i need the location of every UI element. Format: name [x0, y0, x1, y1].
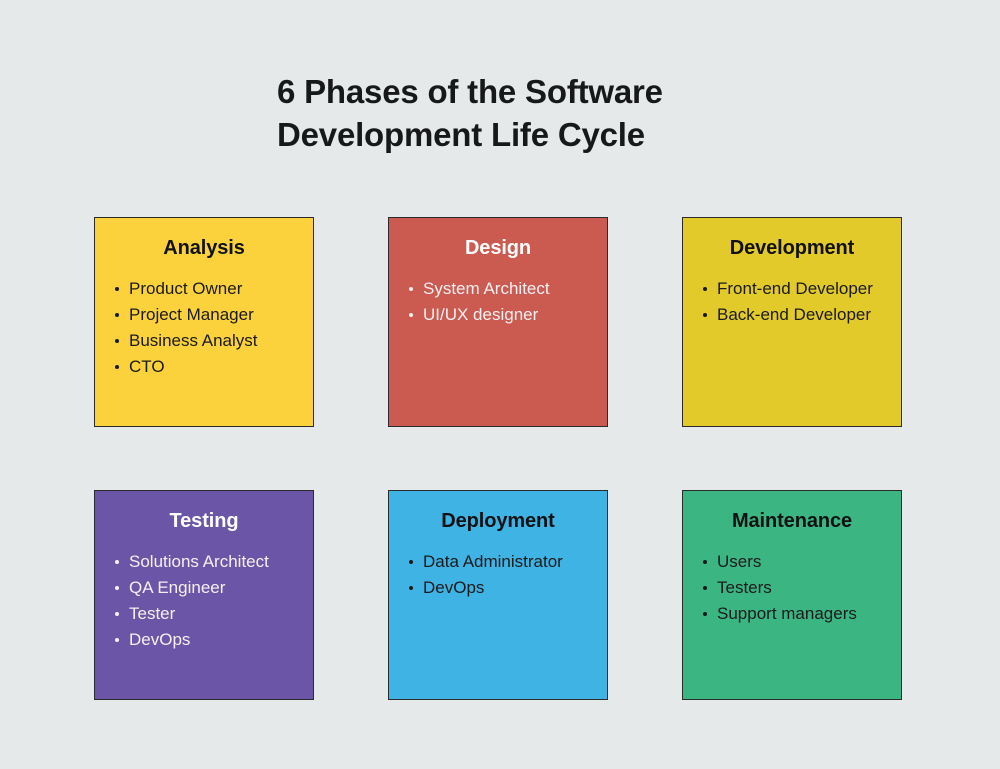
phase-role-item: System Architect — [423, 276, 597, 302]
phase-role-item: Solutions Architect — [129, 549, 303, 575]
phase-card-design[interactable]: DesignSystem ArchitectUI/UX designer — [388, 217, 608, 427]
phase-role-list-testing: Solutions ArchitectQA EngineerTesterDevO… — [95, 549, 313, 653]
phase-role-item: Support managers — [717, 601, 891, 627]
phase-role-item: DevOps — [423, 575, 597, 601]
phase-role-list-maintenance: UsersTestersSupport managers — [683, 549, 901, 627]
phase-role-item: Business Analyst — [129, 328, 303, 354]
phase-role-item: Users — [717, 549, 891, 575]
phase-role-item: Back-end Developer — [717, 302, 891, 328]
phase-heading-development: Development — [693, 236, 891, 260]
phase-heading-testing: Testing — [105, 509, 303, 533]
page-title: 6 Phases of the Software Development Lif… — [277, 70, 917, 156]
phase-card-testing[interactable]: TestingSolutions ArchitectQA EngineerTes… — [94, 490, 314, 700]
phase-role-item: Product Owner — [129, 276, 303, 302]
phase-card-development[interactable]: DevelopmentFront-end DeveloperBack-end D… — [682, 217, 902, 427]
phase-heading-analysis: Analysis — [105, 236, 303, 260]
phase-card-analysis[interactable]: AnalysisProduct OwnerProject ManagerBusi… — [94, 217, 314, 427]
phase-role-item: UI/UX designer — [423, 302, 597, 328]
phase-role-list-design: System ArchitectUI/UX designer — [389, 276, 607, 328]
phase-role-item: QA Engineer — [129, 575, 303, 601]
phase-role-list-development: Front-end DeveloperBack-end Developer — [683, 276, 901, 328]
phase-role-item: Tester — [129, 601, 303, 627]
phase-heading-maintenance: Maintenance — [693, 509, 891, 533]
phase-role-list-deployment: Data AdministratorDevOps — [389, 549, 607, 601]
phase-role-item: Front-end Developer — [717, 276, 891, 302]
phase-role-item: Testers — [717, 575, 891, 601]
phase-card-grid: AnalysisProduct OwnerProject ManagerBusi… — [94, 217, 910, 700]
phase-role-item: Data Administrator — [423, 549, 597, 575]
phase-heading-design: Design — [399, 236, 597, 260]
phase-card-maintenance[interactable]: MaintenanceUsersTestersSupport managers — [682, 490, 902, 700]
phase-role-item: DevOps — [129, 627, 303, 653]
phase-role-list-analysis: Product OwnerProject ManagerBusiness Ana… — [95, 276, 313, 380]
phase-card-deployment[interactable]: DeploymentData AdministratorDevOps — [388, 490, 608, 700]
phase-role-item: CTO — [129, 354, 303, 380]
phase-role-item: Project Manager — [129, 302, 303, 328]
phase-heading-deployment: Deployment — [399, 509, 597, 533]
